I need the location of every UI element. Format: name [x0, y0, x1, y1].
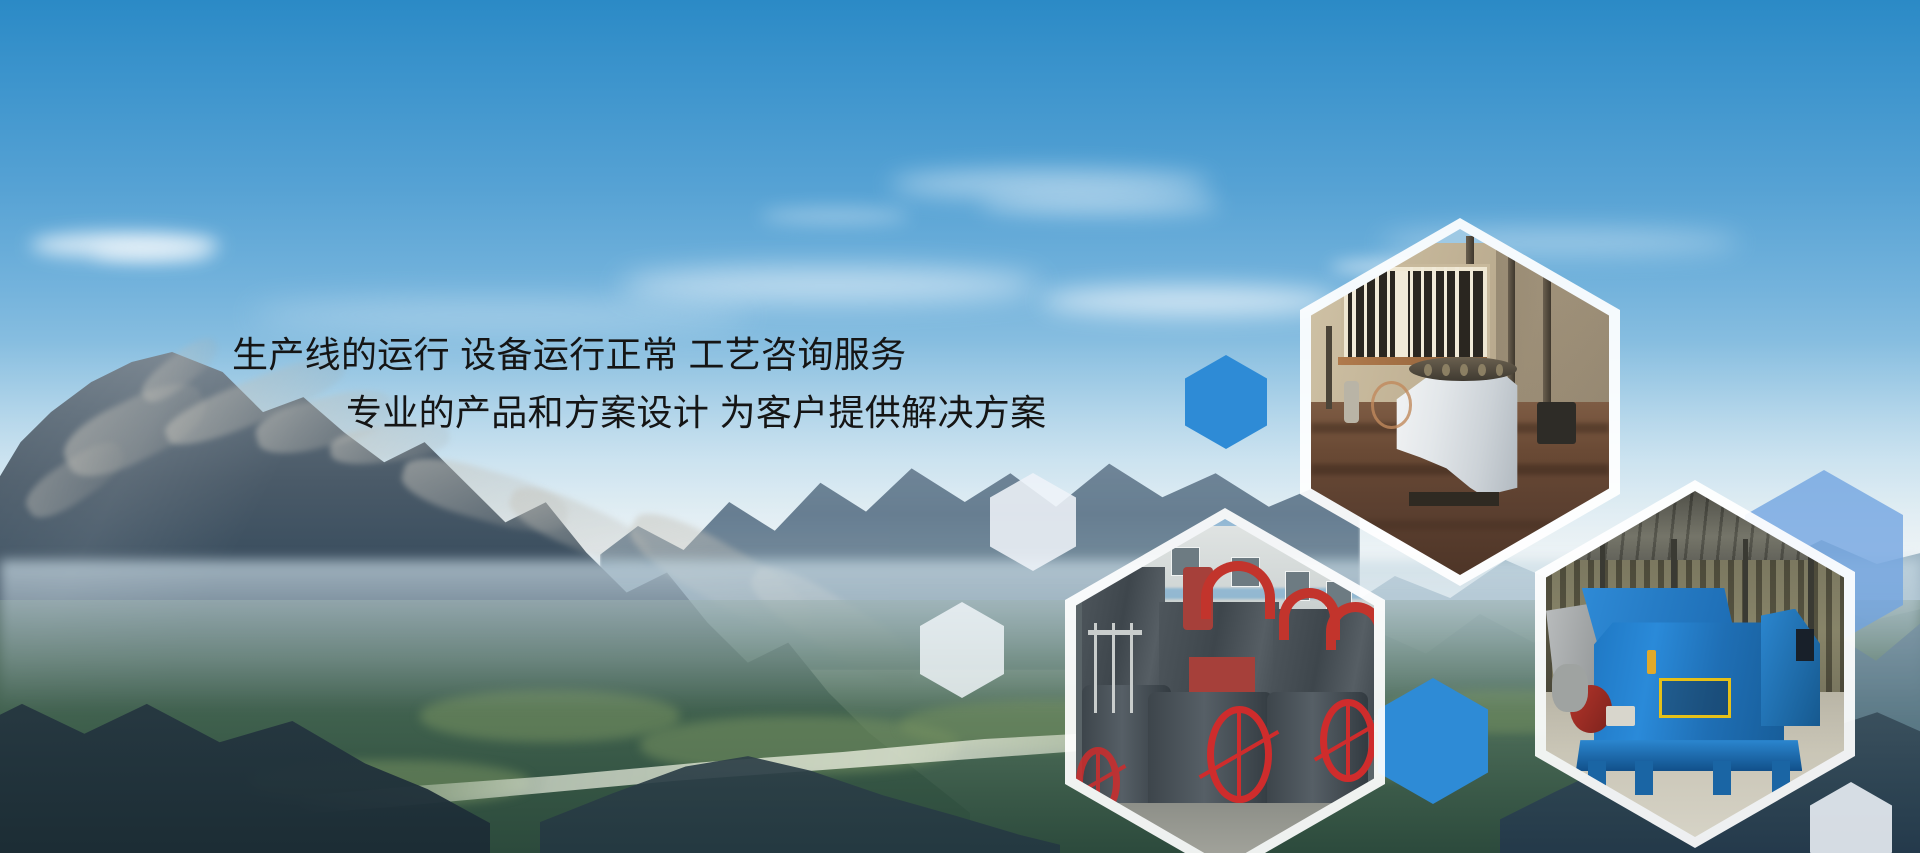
cloud	[620, 268, 1040, 302]
cloud	[1040, 286, 1340, 316]
image-white-industrial-machine	[1311, 229, 1609, 575]
hero-banner: 生产线的运行 设备运行正常 工艺咨询服务 专业的产品和方案设计 为客户提供解决方…	[0, 0, 1920, 853]
image-blue-shredder-machine	[1546, 491, 1844, 837]
cloud	[92, 244, 212, 261]
cloud	[890, 170, 1210, 198]
headline-line-2: 专业的产品和方案设计 为客户提供解决方案	[346, 384, 1112, 442]
cloud	[980, 195, 1220, 215]
image-gray-press-machinery	[1076, 519, 1374, 853]
photo-frame-inner	[1076, 519, 1374, 853]
hero-headline: 生产线的运行 设备运行正常 工艺咨询服务 专业的产品和方案设计 为客户提供解决方…	[232, 326, 1112, 443]
photo-frame-inner	[1546, 491, 1844, 837]
cloud	[760, 208, 910, 224]
photo-frame-inner	[1311, 229, 1609, 575]
headline-line-1: 生产线的运行 设备运行正常 工艺咨询服务	[232, 326, 1112, 384]
